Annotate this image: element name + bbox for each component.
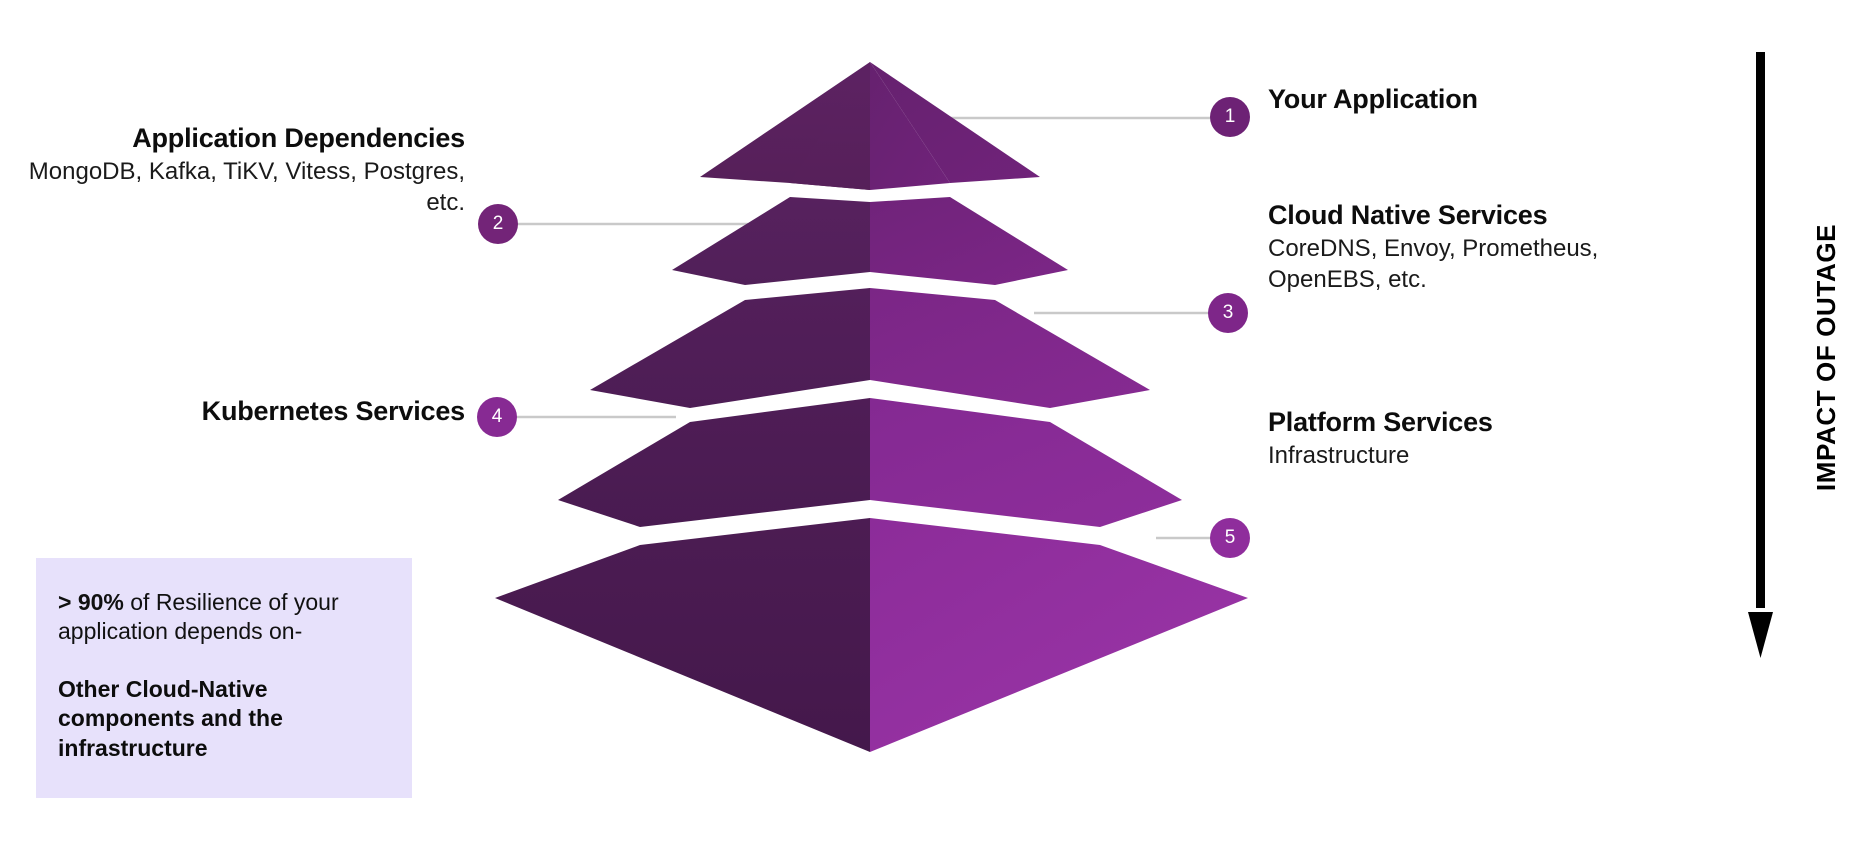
- tier-2-title: Application Dependencies: [0, 123, 465, 155]
- tier-marker-2[interactable]: 2: [478, 204, 518, 244]
- tier-5-subtitle: Infrastructure: [1268, 441, 1688, 472]
- tier-5-right-face: [870, 518, 1248, 752]
- tier-3-title: Cloud Native Services: [1268, 200, 1688, 232]
- tier-marker-3-number: 3: [1223, 302, 1234, 324]
- diagram-canvas: 1 2 3 4 5 Your Application Application D…: [0, 0, 1858, 846]
- callout-percentage: > 90%: [58, 589, 124, 615]
- tier-4-right-face: [870, 398, 1182, 527]
- tier-3-subtitle: CoreDNS, Envoy, Prometheus, OpenEBS, etc…: [1268, 234, 1688, 295]
- tier-label-1: Your Application: [1268, 84, 1478, 116]
- tier-5-left-face: [495, 518, 870, 752]
- callout-line-1: > 90% of Resilience of your application …: [58, 588, 386, 647]
- impact-axis-label: IMPACT OF OUTAGE: [1810, 52, 1844, 662]
- pyramid-tier-3[interactable]: [590, 288, 1150, 408]
- tier-label-3: Cloud Native Services CoreDNS, Envoy, Pr…: [1268, 200, 1688, 295]
- tier-2-right-face: [870, 197, 1068, 285]
- tier-marker-1-number: 1: [1225, 106, 1236, 128]
- tier-4-title: Kubernetes Services: [0, 396, 465, 428]
- pyramid-tier-1[interactable]: [700, 62, 1040, 190]
- impact-axis-label-text: IMPACT OF OUTAGE: [1812, 223, 1843, 490]
- impact-of-outage-axis: IMPACT OF OUTAGE: [1748, 52, 1858, 662]
- pyramid-tier-5[interactable]: [495, 518, 1248, 752]
- tier-5-title: Platform Services: [1268, 407, 1688, 439]
- resilience-callout-box: > 90% of Resilience of your application …: [36, 558, 412, 798]
- tier-marker-5[interactable]: 5: [1210, 518, 1250, 558]
- tier-2-left-face: [672, 197, 870, 285]
- tier-marker-4[interactable]: 4: [477, 397, 517, 437]
- tier-marker-3[interactable]: 3: [1208, 293, 1248, 333]
- tier-label-4: Kubernetes Services: [0, 396, 465, 428]
- tier-label-5: Platform Services Infrastructure: [1268, 407, 1688, 472]
- tier-marker-4-number: 4: [492, 406, 503, 428]
- tier-label-2: Application Dependencies MongoDB, Kafka,…: [0, 123, 465, 218]
- tier-marker-5-number: 5: [1225, 527, 1236, 549]
- pyramid-tier-2[interactable]: [672, 197, 1068, 285]
- tier-marker-2-number: 2: [493, 213, 504, 235]
- callout-line-2: Other Cloud-Native components and the in…: [58, 675, 386, 763]
- tier-2-subtitle: MongoDB, Kafka, TiKV, Vitess, Postgres, …: [0, 157, 465, 218]
- tier-1-title: Your Application: [1268, 84, 1478, 116]
- tier-3-left-face: [590, 288, 870, 408]
- tier-3-right-face: [870, 288, 1150, 408]
- tier-marker-1[interactable]: 1: [1210, 97, 1250, 137]
